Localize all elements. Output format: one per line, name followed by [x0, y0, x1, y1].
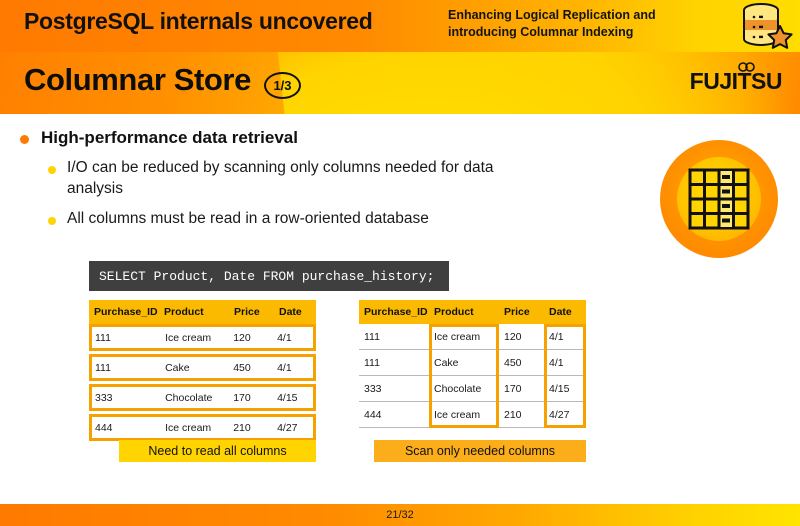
page-number: 21/32 — [386, 509, 414, 521]
table-row: 333 Chocolate 170 4/15 — [89, 384, 316, 411]
column-oriented-table: Purchase_ID Product Price Date 111 Ice c… — [359, 300, 586, 428]
deck-title: PostgreSQL internals uncovered — [24, 8, 372, 35]
cell-date: 4/27 — [272, 422, 313, 434]
column-header-purchase-id: Purchase_ID — [89, 306, 159, 318]
cell-price: 120 — [499, 331, 544, 343]
slide-title-band: Columnar Store 1/3 — [0, 52, 800, 114]
cell-purchase-id: 444 — [92, 422, 160, 434]
sql-statement-text: SELECT Product, Date FROM purchase_histo… — [89, 269, 434, 284]
caption-scan-only-needed: Scan only needed columns — [374, 440, 586, 462]
column-header-date: Date — [544, 306, 586, 318]
deck-subtitle-line1: Enhancing Logical Replication and — [448, 7, 713, 24]
cell-price: 210 — [228, 422, 272, 434]
cell-purchase-id: 111 — [359, 331, 429, 343]
caption-read-all-columns: Need to read all columns — [119, 440, 316, 462]
footer-bar: 21/32 — [0, 504, 800, 526]
cell-purchase-id: 333 — [359, 383, 429, 395]
cell-purchase-id: 444 — [359, 409, 429, 421]
cell-product: Ice cream — [429, 331, 499, 343]
deck-subtitle: Enhancing Logical Replication and introd… — [448, 7, 713, 40]
page-title: Columnar Store — [24, 62, 251, 98]
column-header-price: Price — [229, 306, 274, 318]
database-star-icon — [735, 2, 795, 50]
cell-price: 170 — [228, 392, 272, 404]
columnar-grid-badge — [660, 140, 778, 258]
cell-price: 210 — [499, 409, 544, 421]
slide-sequence-badge: 1/3 — [264, 72, 301, 99]
cell-date: 4/15 — [544, 383, 586, 395]
cell-price: 170 — [499, 383, 544, 395]
bullet-sub-1: I/O can be reduced by scanning only colu… — [48, 158, 636, 200]
bullet-main: High-performance data retrieval — [16, 128, 636, 148]
table-row: 111 Ice cream 120 4/1 — [359, 324, 586, 350]
column-header-purchase-id: Purchase_ID — [359, 306, 429, 318]
bullet-sub-2: All columns must be read in a row-orient… — [48, 209, 636, 230]
column-header-price: Price — [499, 306, 544, 318]
cell-purchase-id: 333 — [92, 392, 160, 404]
row-oriented-table: Purchase_ID Product Price Date 111 Ice c… — [89, 300, 316, 444]
cell-price: 120 — [228, 332, 272, 344]
bullet-dot-icon — [20, 135, 29, 144]
column-header-product: Product — [429, 306, 499, 318]
fujitsu-wordmark: FUJITSU — [690, 68, 782, 95]
cell-date: 4/1 — [544, 357, 586, 369]
cell-date: 4/1 — [544, 331, 586, 343]
table-row: 444 Ice cream 210 4/27 — [359, 402, 586, 428]
cell-product: Chocolate — [429, 383, 499, 395]
cell-product: Cake — [429, 357, 499, 369]
cell-product: Ice cream — [429, 409, 499, 421]
cell-price: 450 — [499, 357, 544, 369]
bullet-main-label: High-performance data retrieval — [41, 128, 298, 148]
columnar-grid-icon — [688, 168, 750, 230]
cell-price: 450 — [228, 362, 272, 374]
cell-product: Chocolate — [160, 392, 228, 404]
table-row: 333 Chocolate 170 4/15 — [359, 376, 586, 402]
bullet-dot-icon — [48, 217, 56, 225]
cell-purchase-id: 111 — [359, 357, 429, 369]
table-row: 444 Ice cream 210 4/27 — [89, 414, 316, 441]
cell-date: 4/1 — [272, 362, 313, 374]
cell-product: Ice cream — [160, 332, 228, 344]
bullet-list: High-performance data retrieval I/O can … — [16, 128, 636, 239]
table-header-row: Purchase_ID Product Price Date — [89, 300, 316, 324]
bullet-sub-2-label: All columns must be read in a row-orient… — [67, 209, 429, 230]
cell-date: 4/15 — [272, 392, 313, 404]
deck-subtitle-line2: introducing Columnar Indexing — [448, 24, 713, 41]
top-header-bar: PostgreSQL internals uncovered Enhancing… — [0, 0, 800, 52]
table-row: 111 Ice cream 120 4/1 — [89, 324, 316, 351]
bullet-dot-icon — [48, 166, 56, 174]
cell-date: 4/27 — [544, 409, 586, 421]
column-header-date: Date — [274, 306, 316, 318]
column-header-product: Product — [159, 306, 229, 318]
table-header-row: Purchase_ID Product Price Date — [359, 300, 586, 324]
slide: PostgreSQL internals uncovered Enhancing… — [0, 0, 800, 526]
cell-date: 4/1 — [272, 332, 313, 344]
cell-product: Ice cream — [160, 422, 228, 434]
table-row: 111 Cake 450 4/1 — [89, 354, 316, 381]
sql-statement-box: SELECT Product, Date FROM purchase_histo… — [89, 261, 449, 291]
cell-purchase-id: 111 — [92, 332, 160, 344]
bullet-sub-1-label: I/O can be reduced by scanning only colu… — [67, 158, 497, 200]
table-row: 111 Cake 450 4/1 — [359, 350, 586, 376]
cell-purchase-id: 111 — [92, 362, 160, 374]
cell-product: Cake — [160, 362, 228, 374]
